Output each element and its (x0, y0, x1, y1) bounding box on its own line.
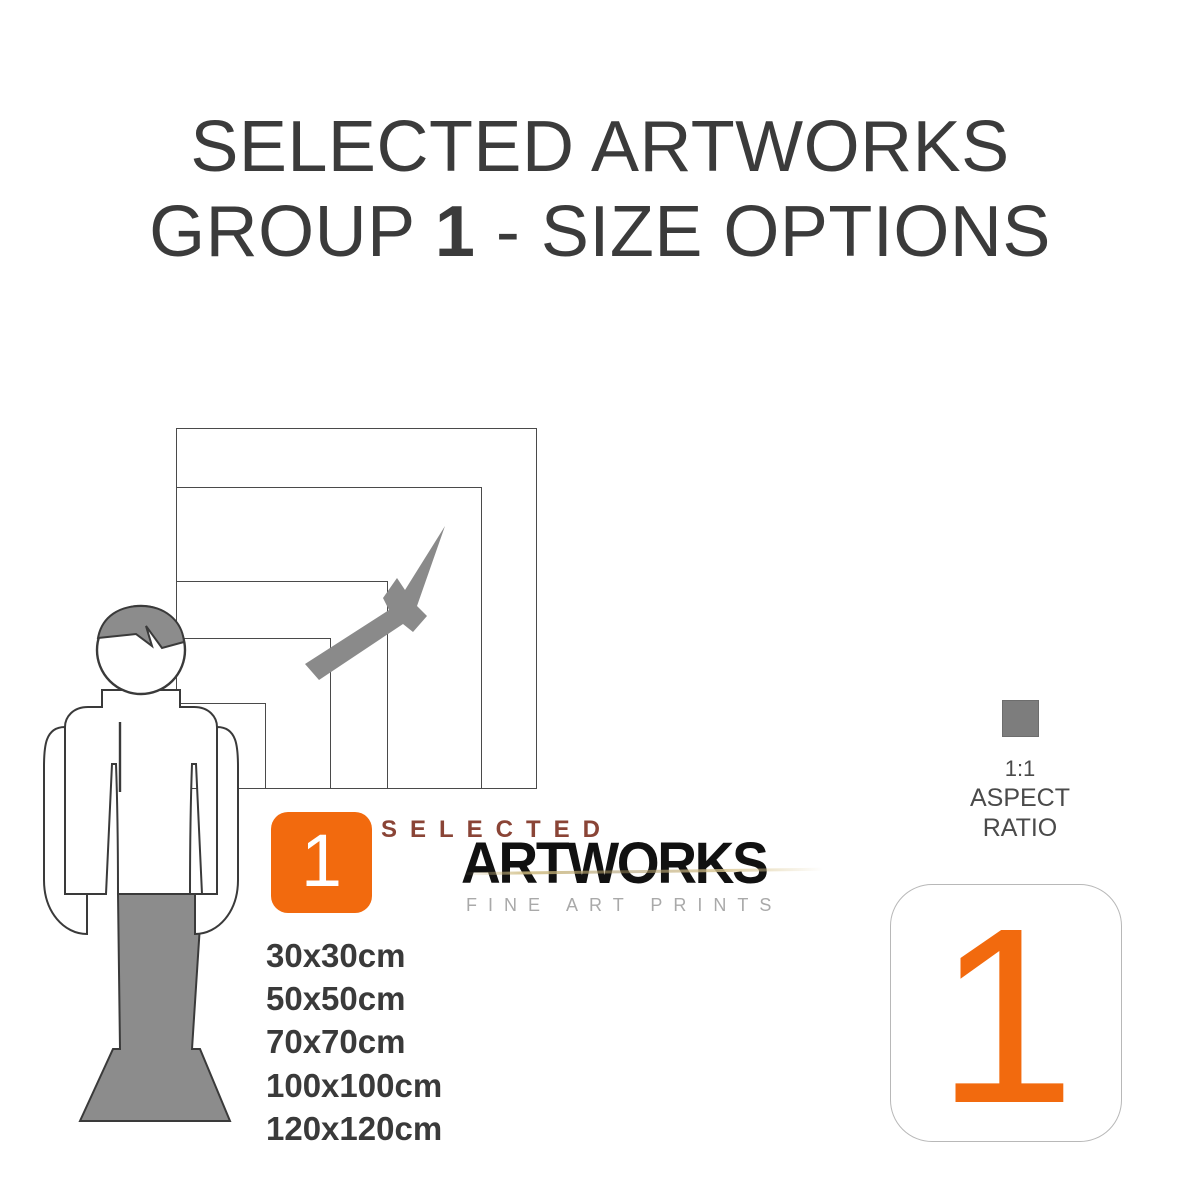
logo-wordmark: SELECTED ARTWORKS FINE ART PRINTS (381, 812, 831, 922)
aspect-ratio-swatch-icon (1002, 700, 1039, 737)
logo-artworks-text: ARTWORKS (461, 830, 766, 897)
page-title: SELECTED ARTWORKS GROUP 1 - SIZE OPTIONS (0, 112, 1200, 267)
person-scale-figure (40, 604, 275, 1164)
aspect-ratio-label-line1: ASPECT (930, 783, 1110, 814)
size-option-120x120[interactable]: 120x120cm (266, 1107, 586, 1150)
growth-arrow-icon (285, 520, 495, 690)
size-option-30x30[interactable]: 30x30cm (266, 934, 586, 977)
title-group-number: 1 (435, 192, 476, 272)
poster-canvas: SELECTED ARTWORKS GROUP 1 - SIZE OPTIONS (0, 0, 1200, 1200)
title-line-1: SELECTED ARTWORKS (0, 112, 1200, 183)
size-option-50x50[interactable]: 50x50cm (266, 977, 586, 1020)
logo-group-badge: 1 (271, 812, 372, 913)
size-options-list: 30x30cm 50x50cm 70x70cm 100x100cm 120x12… (266, 934, 586, 1150)
brand-logo[interactable]: 1 SELECTED ARTWORKS FINE ART PRINTS (271, 812, 831, 922)
size-option-70x70[interactable]: 70x70cm (266, 1020, 586, 1063)
logo-tagline-text: FINE ART PRINTS (466, 895, 782, 916)
aspect-ratio-value: 1:1 (930, 756, 1110, 783)
title-group-prefix: GROUP (149, 192, 435, 272)
person-torso (65, 690, 217, 894)
title-line-2: GROUP 1 - SIZE OPTIONS (0, 197, 1200, 268)
aspect-ratio-label-line2: RATIO (930, 813, 1110, 844)
title-size-options: - SIZE OPTIONS (475, 192, 1051, 272)
aspect-ratio-block: 1:1 ASPECT RATIO (930, 700, 1110, 844)
logo-group-badge-number: 1 (301, 824, 342, 898)
group-number-card: 1 (890, 884, 1122, 1142)
size-option-100x100[interactable]: 100x100cm (266, 1064, 586, 1107)
group-number-card-value: 1 (936, 891, 1075, 1141)
